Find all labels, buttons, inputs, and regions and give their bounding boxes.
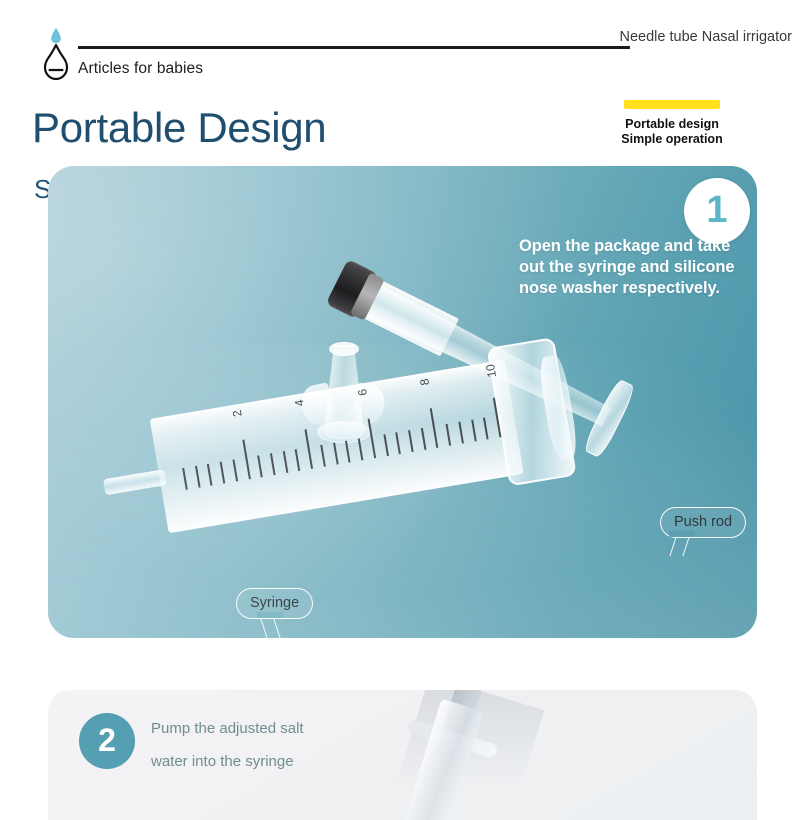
washer-tip-opening — [329, 342, 359, 356]
nasal-dropper-icon — [38, 26, 74, 82]
callout-push-rod: Push rod — [660, 507, 746, 538]
scale-tick-major — [242, 440, 251, 480]
tagline-accent-bar — [624, 100, 720, 109]
page-header: Articles for babies Needle tube Nasal ir… — [0, 0, 800, 100]
scale-tick-minor — [220, 462, 226, 484]
step-2-number: 2 — [98, 724, 116, 756]
scale-tick-minor — [421, 428, 427, 450]
header-divider — [78, 46, 630, 49]
step-1-badge: 1 — [684, 178, 750, 244]
step-2-badge: 2 — [79, 713, 135, 769]
product-name: Needle tube Nasal irrigator — [620, 29, 792, 45]
scale-tick-minor — [195, 466, 201, 488]
step-1-description: Open the package and take out the syring… — [519, 236, 755, 299]
step-2-line-1: Pump the adjusted salt — [151, 712, 411, 745]
scale-tick-minor — [270, 453, 276, 475]
callout-syringe: Syringe — [236, 588, 313, 619]
scale-tick-minor — [458, 422, 464, 444]
scale-tick-minor — [446, 424, 452, 446]
scale-tick-minor — [320, 445, 326, 467]
scale-label: 10 — [483, 363, 499, 378]
step-2-line-2: water into the syringe — [151, 745, 411, 778]
tagline-line-1: Portable design — [592, 117, 752, 132]
scale-tick-minor — [395, 432, 401, 454]
callout-push-rod-label: Push rod — [674, 514, 732, 530]
scale-tick-minor — [333, 443, 339, 465]
callout-push-rod-tail-mask — [669, 531, 695, 537]
scale-tick-minor — [232, 459, 238, 481]
page-title: Portable Design — [32, 104, 326, 152]
scale-tick-minor — [295, 449, 301, 471]
scale-tick-major — [305, 429, 314, 469]
tagline-block: Portable design Simple operation — [592, 100, 752, 147]
callout-syringe-label: Syringe — [250, 595, 299, 611]
step-1-number: 1 — [706, 191, 727, 229]
scale-tick-minor — [471, 420, 477, 442]
scale-tick-minor — [207, 464, 213, 486]
scale-tick-minor — [483, 417, 489, 439]
callout-syringe-tail-mask — [257, 612, 283, 618]
scale-tick-minor — [408, 430, 414, 452]
scale-tick-minor — [283, 451, 289, 473]
brand-label: Articles for babies — [78, 60, 203, 78]
step-2-description: Pump the adjusted salt water into the sy… — [151, 712, 411, 778]
tagline-line-2: Simple operation — [592, 132, 752, 147]
syringe-nozzle — [103, 469, 167, 495]
scale-tick-major — [430, 408, 439, 448]
scale-tick-minor — [383, 434, 389, 456]
scale-tick-minor — [358, 438, 364, 460]
scale-tick-major — [367, 419, 376, 459]
scale-tick-minor — [257, 455, 263, 477]
step-2-panel: 2 Pump the adjusted salt water into the … — [48, 690, 757, 820]
scale-tick-minor — [345, 441, 351, 463]
step-1-panel: 246810 1 Open the package and take out t… — [48, 166, 757, 638]
